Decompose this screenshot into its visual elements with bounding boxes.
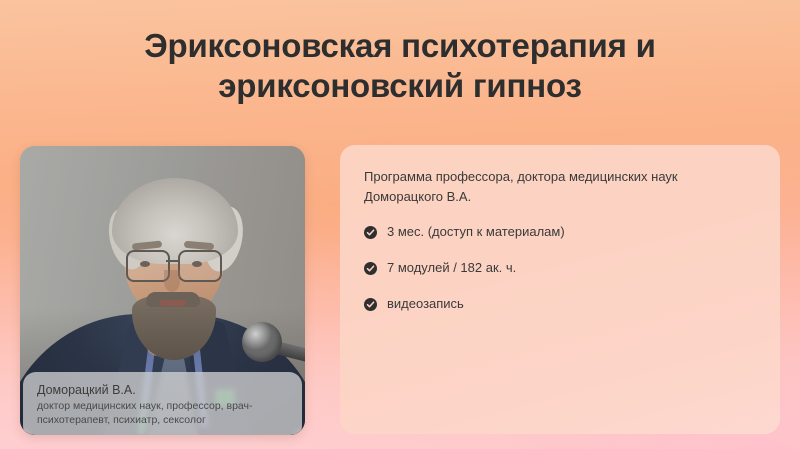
slide-root: Эриксоновская психотерапия и эриксоновск… [0,0,800,449]
list-item: 3 мес. (доступ к материалам) [364,223,754,241]
nose [164,270,180,292]
feature-label: видеозапись [387,295,464,313]
program-feature-list: 3 мес. (доступ к материалам) 7 модулей /… [364,223,754,313]
page-title: Эриксоновская психотерапия и эриксоновск… [0,26,800,106]
mouth [160,300,186,306]
speaker-name: Доморацкий В.А. [37,382,290,398]
program-info-card: Программа профессора, доктора медицински… [340,145,780,434]
check-circle-icon [364,262,377,275]
program-description: Программа профессора, доктора медицински… [364,167,754,207]
check-circle-icon [364,298,377,311]
speaker-photo-card: Доморацкий В.А. доктор медицинских наук,… [20,146,305,435]
feature-label: 3 мес. (доступ к материалам) [387,223,565,241]
glasses-lens-right [178,250,222,282]
list-item: 7 модулей / 182 ак. ч. [364,259,754,277]
check-circle-icon [364,226,377,239]
feature-label: 7 модулей / 182 ак. ч. [387,259,516,277]
glasses-bridge [166,260,178,262]
speaker-role: доктор медицинских наук, профессор, врач… [37,400,281,427]
list-item: видеозапись [364,295,754,313]
microphone-icon [242,322,282,362]
photo-caption-panel: Доморацкий В.А. доктор медицинских наук,… [23,372,302,435]
